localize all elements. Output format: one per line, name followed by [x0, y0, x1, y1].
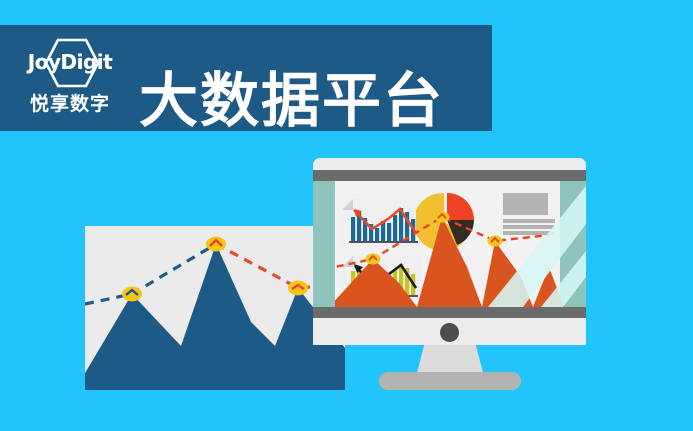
monitor-button-icon[interactable]	[440, 323, 459, 342]
screen-band-left	[313, 181, 335, 307]
monitor-base	[379, 372, 521, 390]
monitor-top-bar	[313, 170, 586, 181]
dashboard-mountain-chart	[335, 205, 564, 307]
mountain-shape-left	[85, 244, 345, 390]
monitor-illustration	[313, 158, 586, 386]
left-mountain-chart	[85, 226, 345, 390]
header-banner: JoyDigit 悦享数字 大数据平台	[0, 25, 492, 131]
left-chart-panel	[85, 226, 345, 390]
monitor-bottom-bar	[313, 307, 586, 318]
monitor-screen	[313, 181, 586, 307]
brand-name: JoyDigit	[14, 50, 126, 74]
data-marker	[288, 281, 308, 296]
trend-line-blue	[85, 244, 216, 304]
poster-canvas: JoyDigit 悦享数字 大数据平台	[0, 0, 693, 431]
page-title: 大数据平台	[139, 69, 444, 133]
brand-logo: JoyDigit 悦享数字	[14, 33, 126, 125]
brand-sub-name: 悦享数字	[14, 89, 126, 116]
